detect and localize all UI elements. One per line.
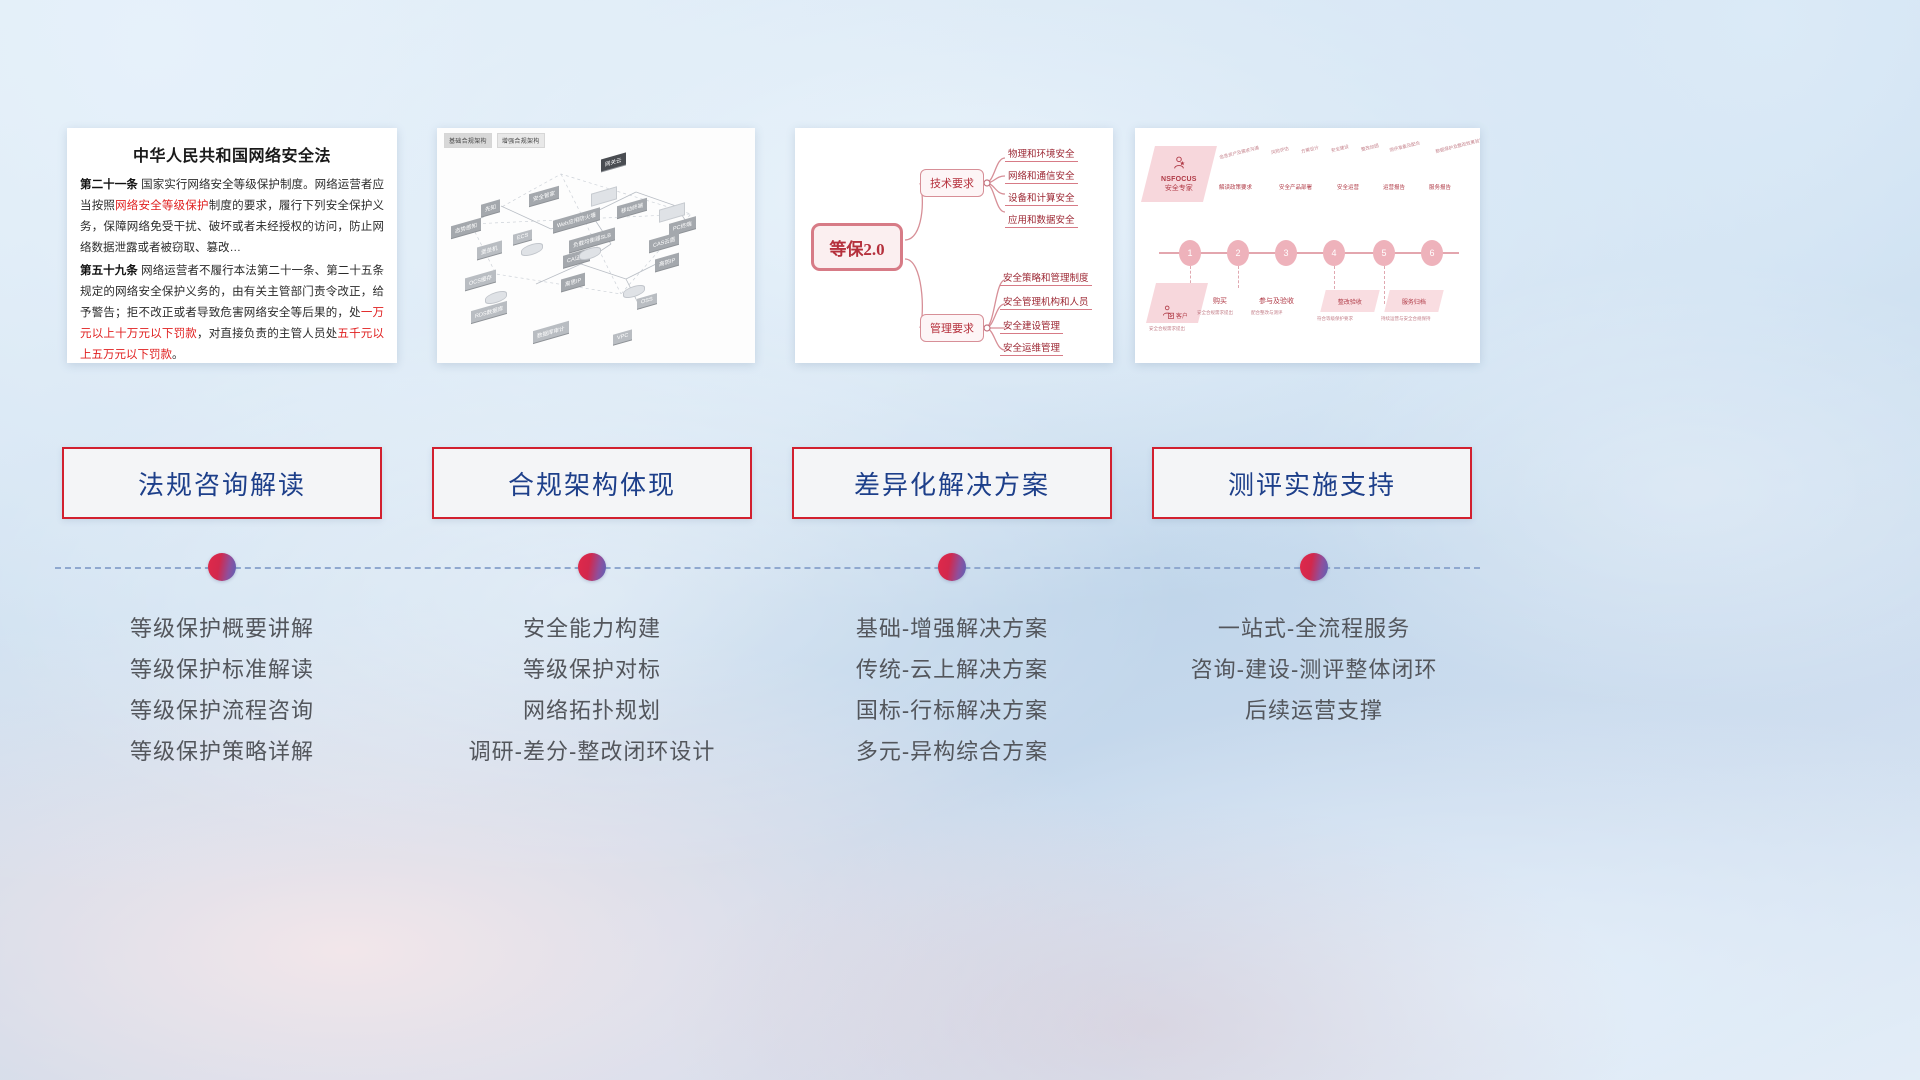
timeline-dot-2 xyxy=(578,553,606,581)
mindmap-branch-management: 管理要求 xyxy=(920,314,984,342)
list-item: 等级保护流程咨询 xyxy=(12,690,432,731)
nsf-toptag-5: 测评准备及配合 xyxy=(1389,140,1421,153)
nsf-customer-action-1-sub: 配合整改与测评 xyxy=(1251,310,1283,316)
customer-person-icon xyxy=(1161,304,1175,320)
nsf-step-3: 3 xyxy=(1275,240,1297,266)
timeline-dashed-line xyxy=(55,567,1480,569)
nsf-lozenge-archive-label: 服务归档 xyxy=(1402,297,1426,306)
column-header-4-label: 测评实施支持 xyxy=(1228,465,1396,502)
column-header-3-label: 差异化解决方案 xyxy=(854,465,1050,502)
list-item: 等级保护对标 xyxy=(382,649,802,690)
column-list-4: 一站式-全流程服务 咨询-建设-测评整体闭环 后续运营支撑 xyxy=(1104,608,1524,731)
list-item: 后续运营支撑 xyxy=(1104,690,1524,731)
column-header-1[interactable]: 法规咨询解读 xyxy=(62,447,382,519)
mindmap-leaf-operation-mgmt: 安全运维管理 xyxy=(1000,340,1063,356)
timeline-dot-4 xyxy=(1300,553,1328,581)
mindmap-leaf-network-communication: 网络和通信安全 xyxy=(1005,168,1078,184)
list-item: 等级保护策略详解 xyxy=(12,731,432,772)
list-item: 一站式-全流程服务 xyxy=(1104,608,1524,649)
nsf-lozenge-archive-sub: 持续运营与安全合规保持 xyxy=(1381,316,1431,322)
nsf-customer-sub: 安全合规需求提出 xyxy=(1149,326,1185,332)
architecture-canvas: 网关云 安全管家 先知 态势感知 堡垒机 移动终端 PC终端 CA证书 离思IP… xyxy=(441,144,751,359)
law-article-21-label: 第二十一条 xyxy=(80,179,138,191)
mindmap-leaf-physical-environment: 物理和环境安全 xyxy=(1005,146,1078,162)
nsfocus-expert-role: 安全专家 xyxy=(1161,183,1197,193)
nsfocus-timeline: NSFOCUS 安全专家 信息资产及需求沟通 风险评估 方案设计 安全建设 整改… xyxy=(1135,128,1480,363)
mindmap-leaf-construction-mgmt: 安全建设管理 xyxy=(1000,318,1063,334)
mindmap-leaf-application-data: 应用和数据安全 xyxy=(1005,212,1078,228)
mindmap: 等保2.0 技术要求 物理和环境安全 网络和通信安全 设备和计算安全 应用和数据… xyxy=(795,128,1113,363)
nsf-lozenge-archive: 服务归档 xyxy=(1384,290,1443,312)
list-item: 咨询-建设-测评整体闭环 xyxy=(1104,649,1524,690)
mindmap-leaf-policy-system: 安全策略和管理制度 xyxy=(1000,270,1092,286)
card-dengbao-mindmap: 等保2.0 技术要求 物理和环境安全 网络和通信安全 设备和计算安全 应用和数据… xyxy=(795,128,1113,363)
nsf-toptag-1: 风险评估 xyxy=(1271,146,1290,156)
nsfocus-customer-badge: 客户 xyxy=(1146,283,1208,323)
nsf-customer-label: 客户 xyxy=(1176,311,1188,320)
nsfocus-brand: NSFOCUS xyxy=(1161,176,1197,183)
column-header-2-label: 合规架构体现 xyxy=(508,465,676,502)
law-article-59: 第五十九条 网络运营者不履行本法第二十一条、第二十五条规定的网络安全保护义务的，… xyxy=(80,261,384,363)
nsf-customer-action-0: 购买 xyxy=(1213,296,1227,306)
list-item: 调研-差分-整改闭环设计 xyxy=(382,731,802,772)
column-list-2: 安全能力构建 等级保护对标 网络拓扑规划 调研-差分-整改闭环设计 xyxy=(382,608,802,772)
nsf-step-6: 6 xyxy=(1421,240,1443,266)
law-article-21: 第二十一条 国家实行网络安全等级保护制度。网络运营者应当按照网络安全等级保护制度… xyxy=(80,175,384,259)
image-cards-row: 中华人民共和国网络安全法 第二十一条 国家实行网络安全等级保护制度。网络运营者应… xyxy=(0,128,1920,363)
nsf-service-2: 安全运营 xyxy=(1337,183,1359,191)
nsf-step-5: 5 xyxy=(1373,240,1395,266)
nsf-service-1: 安全产品部署 xyxy=(1279,183,1312,191)
card-compliance-architecture: 基础合规架构 增强合规架构 xyxy=(437,128,755,363)
nsf-step-1: 1 xyxy=(1179,240,1201,266)
nsf-timeline-axis xyxy=(1159,252,1459,254)
list-item: 基础-增强解决方案 xyxy=(742,608,1162,649)
law-title: 中华人民共和国网络安全法 xyxy=(80,142,384,166)
nsf-service-3: 运营报告 xyxy=(1383,183,1405,191)
list-item: 网络拓扑规划 xyxy=(382,690,802,731)
column-header-4[interactable]: 测评实施支持 xyxy=(1152,447,1472,519)
nsf-step-4: 4 xyxy=(1323,240,1345,266)
nsf-customer-action-1: 参与及验收 xyxy=(1259,296,1294,306)
nsf-dash-5 xyxy=(1384,266,1385,304)
nsf-lozenge-acceptance-sub: 符合等级保护要求 xyxy=(1317,316,1353,322)
list-item: 传统-云上解决方案 xyxy=(742,649,1162,690)
card-nsfocus-service-timeline: NSFOCUS 安全专家 信息资产及需求沟通 风险评估 方案设计 安全建设 整改… xyxy=(1135,128,1480,363)
timeline-dot-1 xyxy=(208,553,236,581)
nsf-toptag-3: 安全建设 xyxy=(1331,144,1350,154)
architecture-diagram: 基础合规架构 增强合规架构 xyxy=(437,128,755,363)
column-list-3: 基础-增强解决方案 传统-云上解决方案 国标-行标解决方案 多元-异构综合方案 xyxy=(742,608,1162,772)
nsf-toptag-4: 整改加固 xyxy=(1361,143,1380,153)
list-item: 等级保护概要讲解 xyxy=(12,608,432,649)
mindmap-leaf-org-personnel: 安全管理机构和人员 xyxy=(1000,294,1092,310)
mindmap-leaf-device-computing: 设备和计算安全 xyxy=(1005,190,1078,206)
nsf-toptag-0: 信息资产及需求沟通 xyxy=(1219,145,1260,161)
law-article-21-highlight: 网络安全等级保护 xyxy=(115,200,209,212)
list-item: 多元-异构综合方案 xyxy=(742,731,1162,772)
law-document: 中华人民共和国网络安全法 第二十一条 国家实行网络安全等级保护制度。网络运营者应… xyxy=(67,128,397,363)
column-list-1: 等级保护概要讲解 等级保护标准解读 等级保护流程咨询 等级保护策略详解 xyxy=(12,608,432,772)
timeline-dot-3 xyxy=(938,553,966,581)
nsf-step-2: 2 xyxy=(1227,240,1249,266)
list-item: 等级保护标准解读 xyxy=(12,649,432,690)
nsf-customer-action-0-sub: 安全合规需求提出 xyxy=(1197,310,1233,316)
nsf-service-4: 服务报告 xyxy=(1429,183,1451,191)
card-cybersecurity-law: 中华人民共和国网络安全法 第二十一条 国家实行网络安全等级保护制度。网络运营者应… xyxy=(67,128,397,363)
slide-page: 中华人民共和国网络安全法 第二十一条 国家实行网络安全等级保护制度。网络运营者应… xyxy=(0,0,1920,1080)
expert-person-icon xyxy=(1171,155,1187,171)
nsf-toptag-6: 数据保护及整改效果验证 xyxy=(1435,137,1480,155)
nsf-dash-2 xyxy=(1238,266,1239,288)
nsfocus-expert-badge: NSFOCUS 安全专家 xyxy=(1141,146,1217,202)
nsf-service-0: 解读政策要求 xyxy=(1219,183,1252,191)
column-header-3[interactable]: 差异化解决方案 xyxy=(792,447,1112,519)
law-article-59-text-3: 。 xyxy=(172,349,184,361)
nsf-lozenge-acceptance: 整改验收 xyxy=(1320,290,1379,312)
law-article-59-text-2: ，对直接负责的主管人员处 xyxy=(197,328,337,340)
column-header-1-label: 法规咨询解读 xyxy=(138,465,306,502)
mindmap-branch-technical: 技术要求 xyxy=(920,169,984,197)
law-article-59-label: 第五十九条 xyxy=(80,265,138,277)
list-item: 安全能力构建 xyxy=(382,608,802,649)
nsf-lozenge-acceptance-label: 整改验收 xyxy=(1338,297,1362,306)
mindmap-center-node: 等保2.0 xyxy=(811,223,903,271)
list-item: 国标-行标解决方案 xyxy=(742,690,1162,731)
nsf-toptag-2: 方案设计 xyxy=(1301,145,1320,155)
column-header-2[interactable]: 合规架构体现 xyxy=(432,447,752,519)
